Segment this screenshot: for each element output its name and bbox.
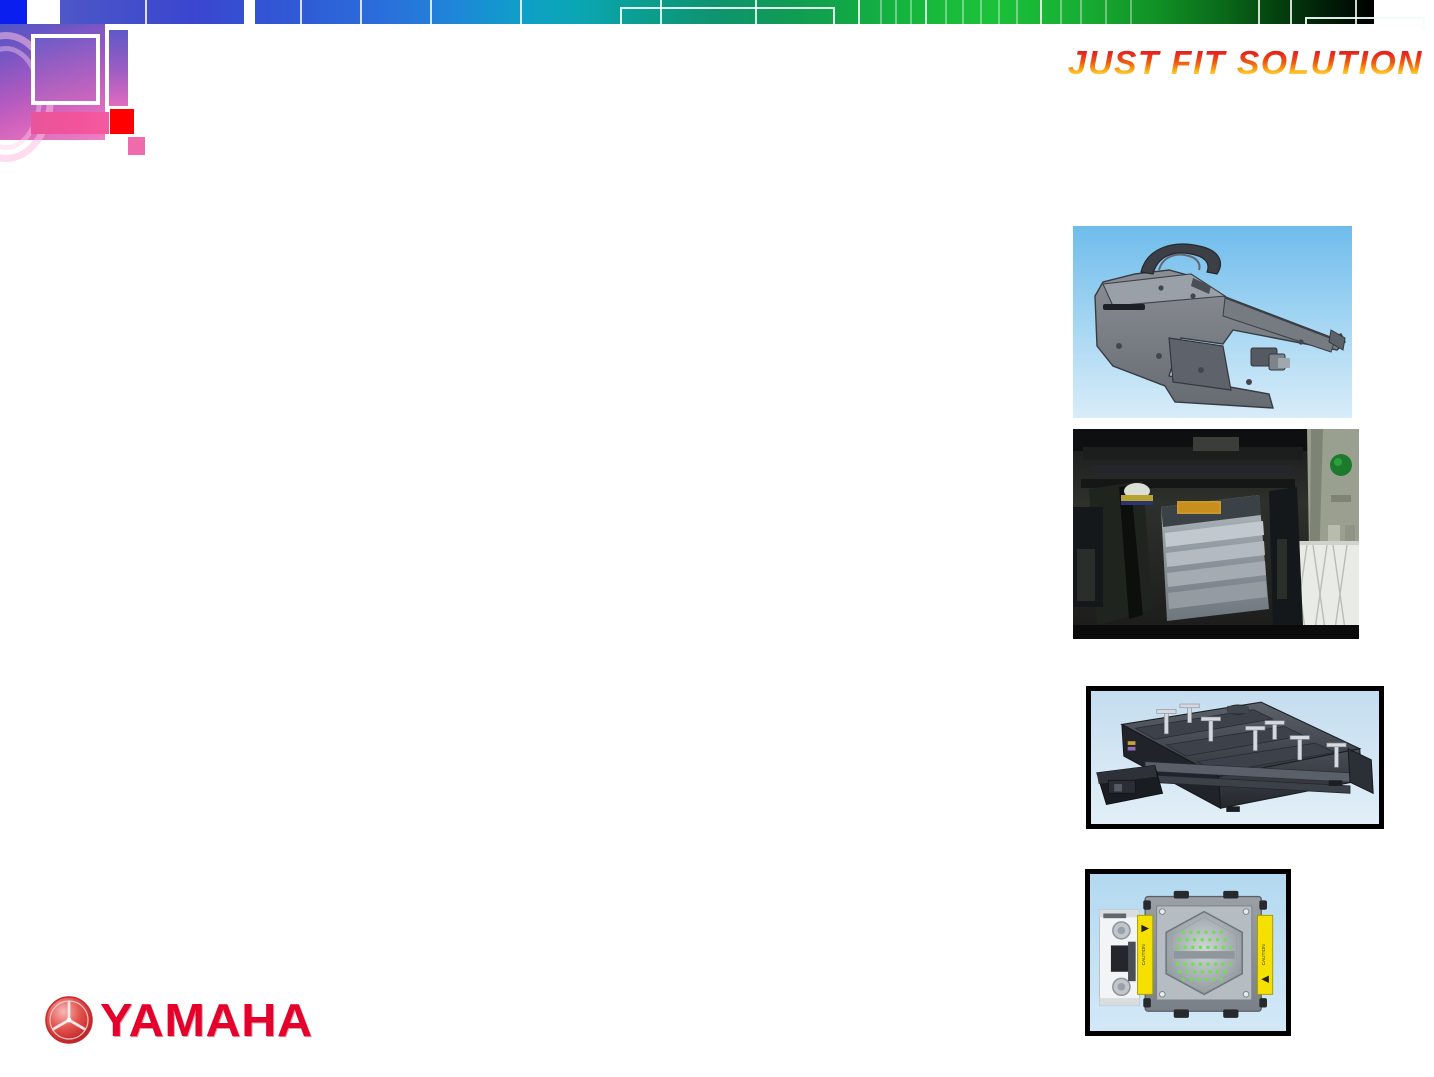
bar-divider-7 — [520, 0, 522, 24]
logo-square-icon — [31, 34, 100, 105]
yamaha-logo: YAMAHA — [44, 993, 284, 1051]
machine-interior-photo — [1073, 429, 1359, 639]
bar-divider-10 — [858, 0, 860, 24]
tuning-fork-icon — [44, 995, 94, 1045]
bar-divider-2 — [145, 0, 147, 24]
bar-divider-14 — [1290, 0, 1292, 24]
bar-tick-11 — [1105, 0, 1107, 24]
bar-tick-10 — [1080, 0, 1082, 24]
just-fit-solution-logo-mark — [0, 24, 150, 149]
bar-divider-5 — [360, 0, 362, 24]
bar-tick-6 — [980, 0, 982, 24]
slide-body-content — [40, 170, 1040, 970]
bar-tick-4 — [945, 0, 947, 24]
logo-vertical-bar — [109, 30, 128, 106]
bar-tick-5 — [962, 0, 964, 24]
image-machine-interior — [1073, 429, 1359, 639]
logo-red-square-accent — [110, 109, 134, 134]
just-fit-solution-tagline: JUST FIT SOLUTION — [1056, 44, 1423, 84]
bar-divider-13 — [1258, 0, 1260, 24]
bar-tick-9 — [1060, 0, 1062, 24]
tape-feeder-cad-render — [1073, 226, 1352, 418]
bar-tick-8 — [1016, 0, 1018, 24]
bar-tick-3 — [910, 0, 912, 24]
bar-divider-11 — [925, 0, 927, 24]
logo-pink-square-accent — [128, 137, 145, 155]
image-vision-unit: CAUTION CAUTION — [1085, 869, 1291, 1036]
svg-text:CAUTION: CAUTION — [1141, 944, 1147, 966]
vision-lighting-unit-render: CAUTION CAUTION — [1090, 874, 1286, 1031]
bar-block-blue — [0, 0, 27, 24]
yamaha-wordmark: YAMAHA — [100, 993, 313, 1047]
bar-tick-2 — [895, 0, 897, 24]
bar-underline-right — [1150, 24, 1434, 26]
bar-divider-12 — [1040, 0, 1042, 24]
logo-horizontal-bar — [31, 112, 109, 134]
bar-tick-12 — [1130, 0, 1132, 24]
svg-text:CAUTION: CAUTION — [1261, 944, 1267, 966]
bar-divider-6 — [430, 0, 432, 24]
bar-outline-rect-1 — [620, 7, 835, 29]
bar-divider-4 — [300, 0, 302, 24]
image-tray-feeder — [1086, 686, 1384, 829]
gradient-spectrum-bar — [0, 0, 1434, 29]
yamaha-tuning-fork-emblem — [44, 995, 94, 1045]
bar-tick-7 — [998, 0, 1000, 24]
bar-tick-1 — [880, 0, 882, 24]
bar-outline-rect-2 — [1305, 17, 1425, 29]
slide-root: JUST FIT SOLUTION — [0, 0, 1434, 1077]
image-tape-feeder — [1073, 226, 1352, 418]
tray-feeder-cad-render — [1091, 691, 1379, 824]
bar-divider-3 — [244, 0, 255, 24]
bar-divider-1 — [27, 0, 60, 24]
